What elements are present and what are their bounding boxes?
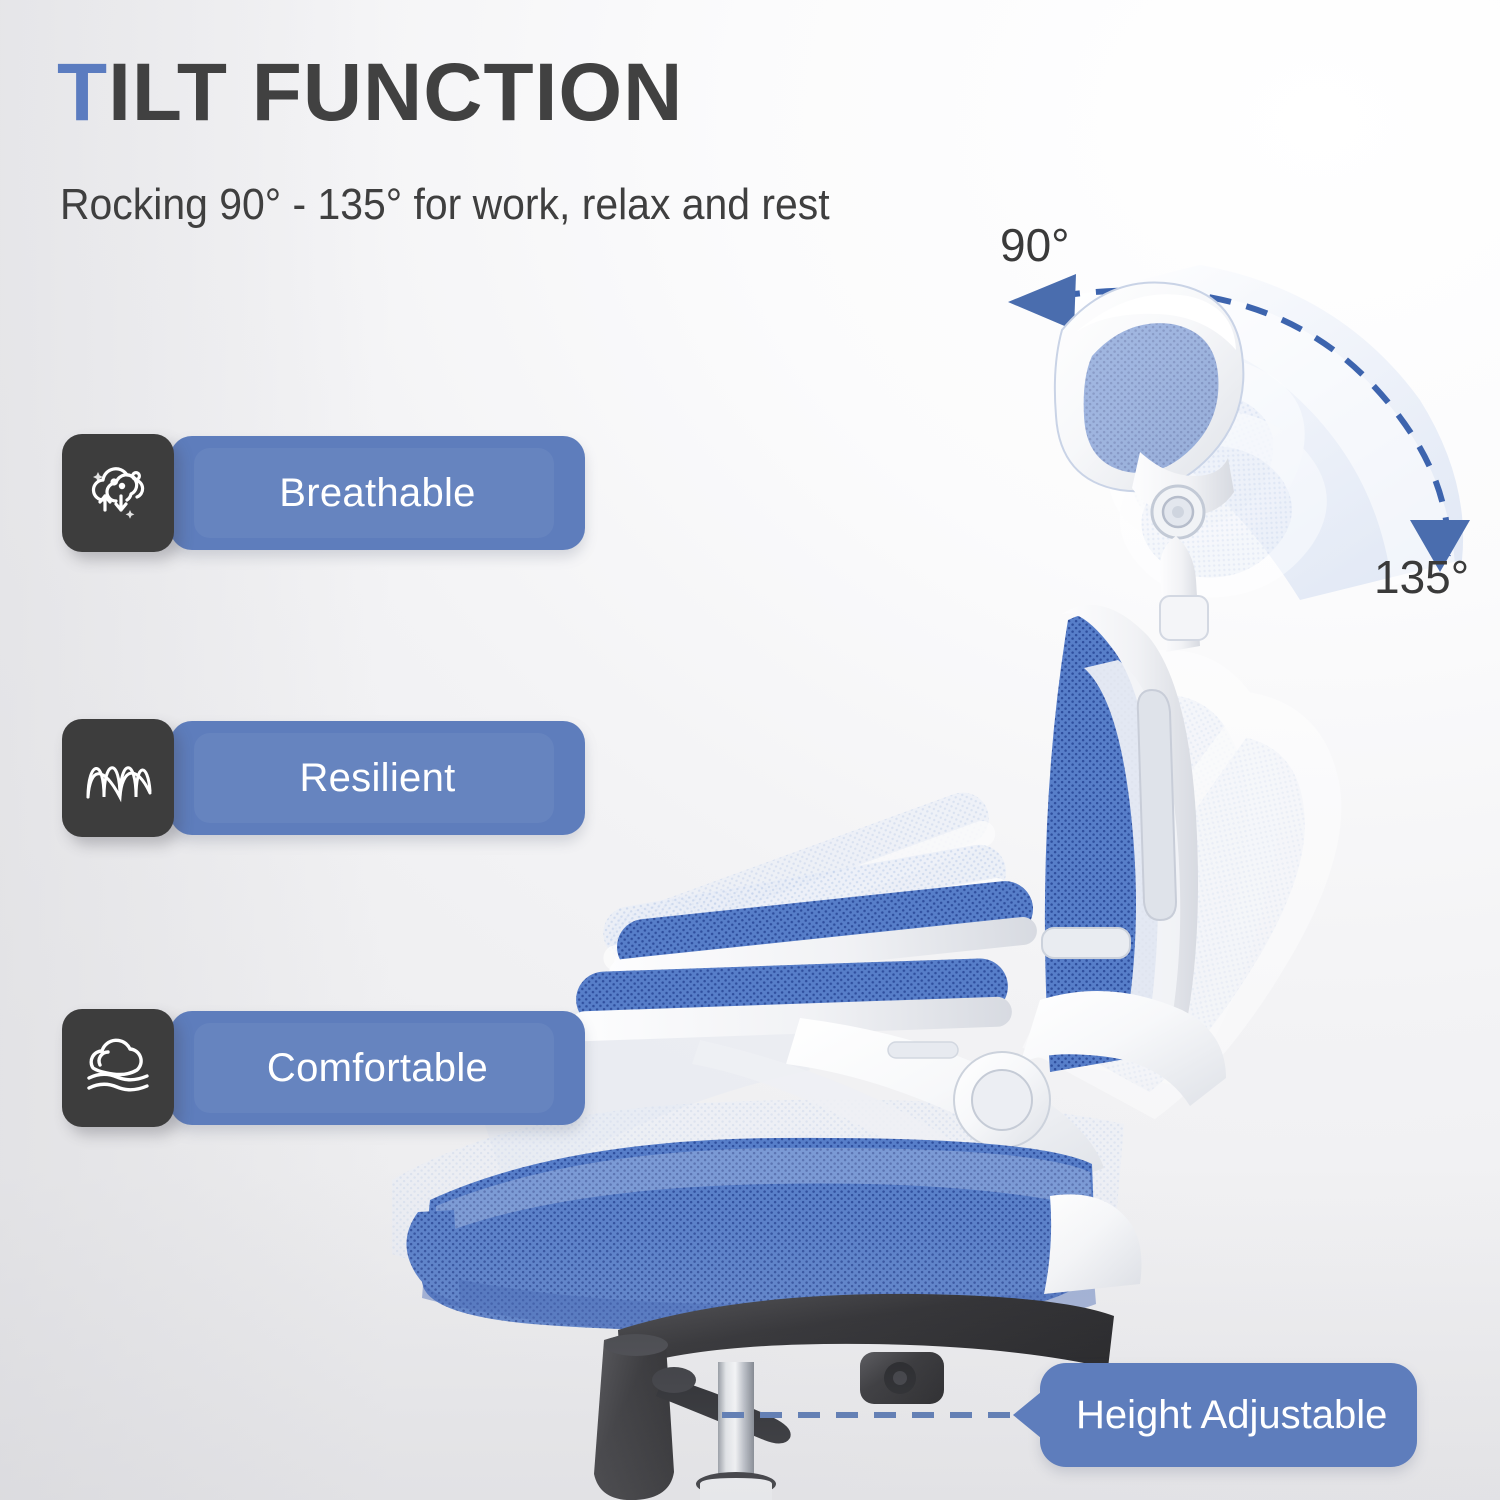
feature-icon-box xyxy=(62,1009,174,1127)
page-title: TILT FUNCTION xyxy=(57,52,683,134)
feature-badge-label: Resilient xyxy=(170,721,585,835)
feature-badge-label: Breathable xyxy=(170,436,585,550)
angle-label-min: 90° xyxy=(1000,222,1070,268)
feature-icon-box xyxy=(62,719,174,837)
spring-coil-icon xyxy=(82,747,154,809)
feature-icon-box xyxy=(62,434,174,552)
page-title-accent-letter: T xyxy=(57,47,108,138)
height-adjustable-label: Height Adjustable xyxy=(1076,1393,1387,1438)
infographic-canvas: TILT FUNCTION Rocking 90° - 135° for wor… xyxy=(0,0,1500,1500)
feature-badge-label: Comfortable xyxy=(170,1011,585,1125)
page-title-rest: ILT FUNCTION xyxy=(108,47,683,138)
callout-tail xyxy=(1013,1392,1041,1438)
airflow-icon xyxy=(83,458,153,528)
arrow-90-degrees xyxy=(1008,274,1076,330)
height-adjustable-callout[interactable]: Height Adjustable xyxy=(1040,1363,1417,1467)
page-subtitle: Rocking 90° - 135° for work, relax and r… xyxy=(60,183,830,227)
angle-label-max: 135° xyxy=(1374,554,1469,600)
cushion-cloud-icon xyxy=(81,1036,155,1100)
